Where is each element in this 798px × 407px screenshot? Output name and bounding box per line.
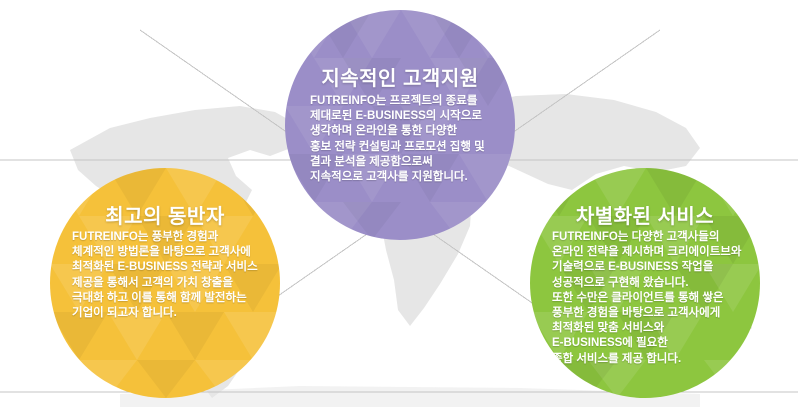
circle-differentiated-service[interactable]: 차별화된 서비스 FUTREINFO는 다양한 고객사들의 온라인 전략을 제시…: [530, 168, 760, 398]
infographic-canvas: 지속적인 고객지원 FUTREINFO는 프로젝트의 종료를 제대로된 E-BU…: [0, 0, 798, 407]
circle-best-partner[interactable]: 최고의 동반자 FUTREINFO는 풍부한 경험과 체계적인 방법론을 바탕으…: [50, 168, 280, 398]
circle-customer-support[interactable]: 지속적인 고객지원 FUTREINFO는 프로젝트의 종료를 제대로된 E-BU…: [285, 10, 515, 240]
circle-body-partner: FUTREINFO는 풍부한 경험과 체계적인 방법론을 바탕으로 고객사에 최…: [72, 230, 268, 321]
circle-title-support: 지속적인 고객지원: [285, 62, 515, 91]
circle-body-support: FUTREINFO는 프로젝트의 종료를 제대로된 E-BUSINESS의 시작…: [310, 94, 505, 185]
circle-title-partner: 최고의 동반자: [50, 200, 280, 229]
circle-title-service: 차별화된 서비스: [530, 200, 760, 229]
circle-body-service: FUTREINFO는 다양한 고객사들의 온라인 전략을 제시하며 크리에이트브…: [552, 230, 752, 367]
